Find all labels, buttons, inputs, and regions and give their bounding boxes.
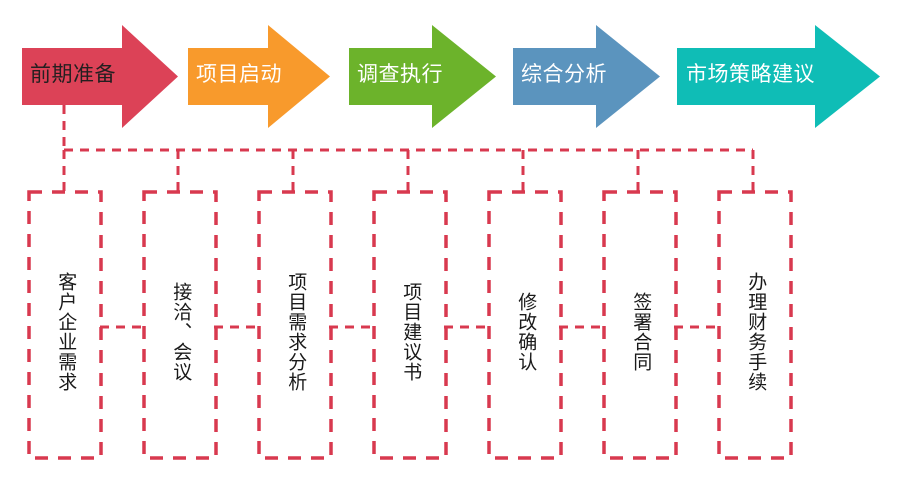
task-label-5: 修改确认 bbox=[515, 232, 536, 432]
phase-label-1: 前期准备 bbox=[30, 64, 116, 85]
phase-label-3: 调查执行 bbox=[357, 64, 443, 85]
task-label-4: 项目建议书 bbox=[400, 232, 421, 432]
phase-label-2: 项目启动 bbox=[196, 64, 282, 85]
task-label-6: 签署合同 bbox=[630, 232, 651, 432]
phase-label-5: 市场策略建议 bbox=[686, 64, 815, 85]
phase-label-4: 综合分析 bbox=[521, 64, 607, 85]
task-label-3: 项目需求分析 bbox=[285, 232, 306, 432]
task-label-2: 接洽、会议 bbox=[170, 232, 191, 432]
diagram-canvas: 前期准备 项目启动 调查执行 综合分析 市场策略建议 客户企业需求 接洽、会议 … bbox=[0, 0, 900, 480]
task-label-1: 客户企业需求 bbox=[55, 232, 76, 432]
task-label-7: 办理财务手续 bbox=[745, 232, 766, 432]
